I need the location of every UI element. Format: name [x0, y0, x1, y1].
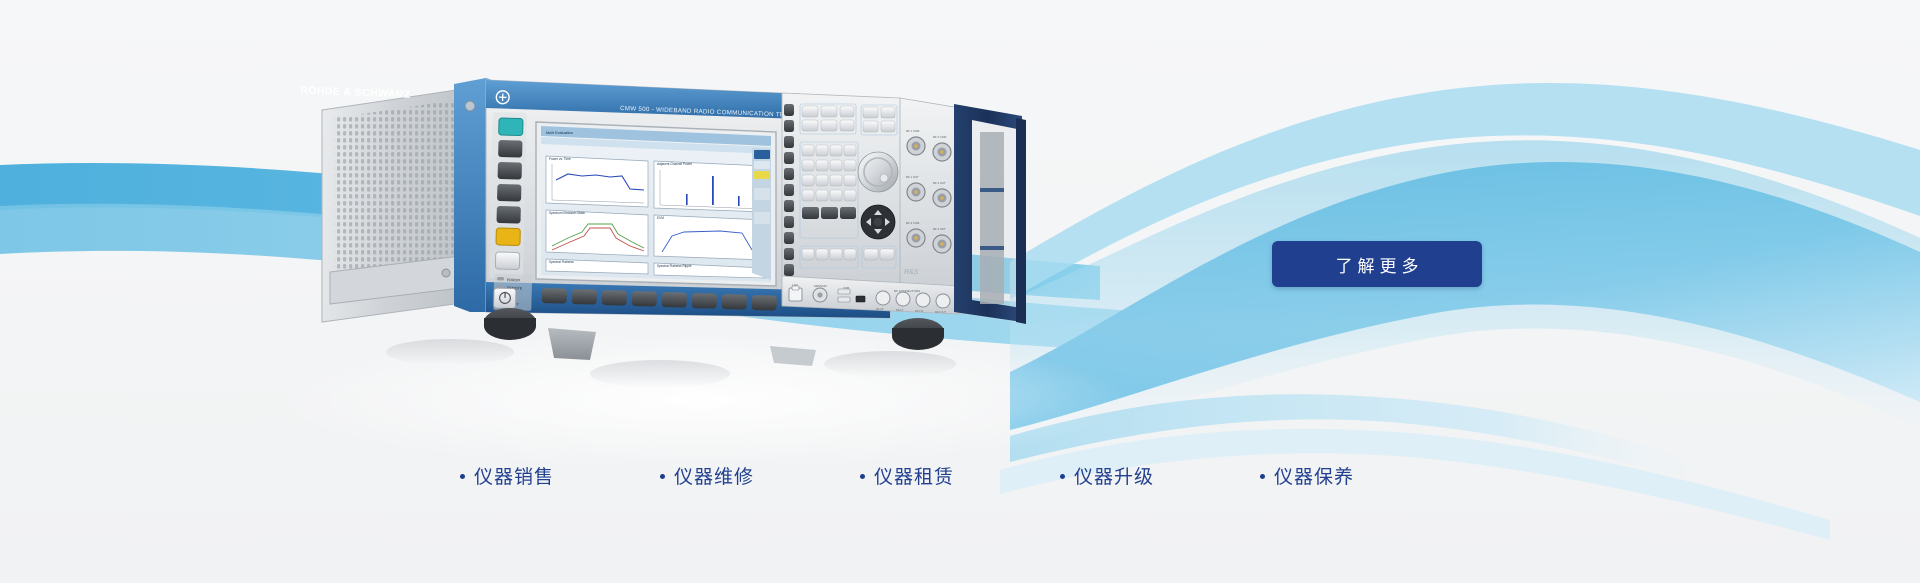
- rf-module-panel[interactable]: RF 1 COM RF 2 COM RF 1 OUT RF 2 OUT RF 3…: [900, 98, 960, 314]
- service-item-sales[interactable]: 仪器销售: [460, 462, 660, 489]
- screen-tab-trigger: [754, 212, 770, 224]
- screen-panel-spectrum-emission-mask: Spectrum Emission Mask: [546, 210, 648, 256]
- usb-port-1: [838, 289, 850, 294]
- bullet-icon: [660, 474, 665, 479]
- svg-text:SENSOR: SENSOR: [814, 284, 828, 288]
- svg-text:Power vs. Time: Power vs. Time: [549, 157, 571, 161]
- off-key: [880, 249, 894, 260]
- service-label: 仪器保养: [1274, 462, 1354, 489]
- preset-button[interactable]: [499, 118, 523, 136]
- bullet-icon: [1260, 474, 1265, 479]
- softkey-3: [602, 290, 627, 306]
- carry-handle: [954, 104, 1026, 324]
- save-recall-button[interactable]: [498, 162, 522, 180]
- hero-banner: ROHDE & SCHWARZ CMW 500 - WIDEBAND RADIO…: [0, 0, 1920, 583]
- svg-text:RF 3 OUT: RF 3 OUT: [933, 227, 946, 231]
- navigation-dpad[interactable]: [861, 205, 895, 239]
- softkey-5: [662, 292, 687, 308]
- bullet-icon: [460, 474, 465, 479]
- service-item-rental[interactable]: 仪器租赁: [860, 462, 1060, 489]
- svg-text:RF 1 OUT: RF 1 OUT: [906, 175, 919, 179]
- screen-tab-route: [754, 161, 770, 169]
- service-label: 仪器销售: [474, 462, 554, 489]
- svg-text:Spectrum Emission Mask: Spectrum Emission Mask: [549, 211, 585, 215]
- rf-front-2: [896, 292, 910, 306]
- service-label: 仪器维修: [674, 462, 754, 489]
- screen-tab-meas: [754, 150, 770, 159]
- back-space-key: [802, 207, 819, 219]
- rotary-knob[interactable]: [858, 152, 898, 192]
- svg-text:RF1 IN: RF1 IN: [915, 309, 923, 313]
- softkey-6: [692, 293, 717, 309]
- svg-text:RF2 A: RF2 A: [896, 308, 903, 312]
- softkey-2: [572, 289, 597, 305]
- rf-front-1: [876, 291, 890, 305]
- bullet-icon: [1060, 474, 1065, 479]
- instrument-screen[interactable]: Multi Evaluation Power vs. Time Adjacent…: [536, 122, 776, 286]
- side-button-column[interactable]: [489, 112, 527, 279]
- svg-text:Adjacent Channel Power: Adjacent Channel Power: [657, 162, 693, 166]
- screen-title: Multi Evaluation: [546, 131, 573, 135]
- screen-panel-adjacent-channel-power: Adjacent Channel Power: [654, 161, 766, 212]
- on-key: [864, 249, 878, 260]
- led-label-error: ERROR: [507, 278, 520, 282]
- service-list: 仪器销售 仪器维修 仪器租赁 仪器升级 仪器保养: [0, 462, 1920, 489]
- brand-text: ROHDE & SCHWARZ: [300, 84, 411, 100]
- svg-text:RF 2 OUT: RF 2 OUT: [933, 181, 946, 185]
- svg-text:RF CONNECTORS: RF CONNECTORS: [894, 289, 920, 293]
- sys-button[interactable]: [495, 252, 519, 270]
- svg-text:RF2 OUT: RF2 OUT: [935, 310, 947, 314]
- screen-tab-active: [754, 171, 770, 179]
- svg-text:Spectral Flatness: Spectral Flatness: [549, 260, 574, 264]
- rf-front-4: [936, 294, 950, 308]
- power-button[interactable]: [494, 288, 516, 309]
- rf-front-3: [916, 293, 930, 307]
- print-button[interactable]: [496, 206, 520, 224]
- softkey-1: [542, 288, 567, 304]
- service-label: 仪器租赁: [874, 462, 954, 489]
- softkey-4: [632, 291, 657, 307]
- enter-key: [840, 207, 856, 219]
- help-button[interactable]: [496, 228, 520, 246]
- svg-text:RF 3 COM: RF 3 COM: [906, 221, 920, 225]
- usb-port-2: [838, 297, 850, 302]
- save-button[interactable]: [498, 140, 522, 158]
- svg-text:RF1 B: RF1 B: [876, 307, 884, 311]
- service-item-maintenance[interactable]: 仪器保养: [1260, 462, 1460, 489]
- aux-port: [856, 296, 865, 302]
- setup-button[interactable]: [497, 184, 521, 202]
- service-label: 仪器升级: [1074, 462, 1154, 489]
- svg-text:RF 2 COM: RF 2 COM: [933, 135, 947, 139]
- softkey-7: [722, 294, 747, 310]
- softkey-8: [752, 295, 777, 311]
- screen-panel-evm: EVM: [654, 215, 766, 260]
- svg-text:RF 1 COM: RF 1 COM: [906, 129, 920, 133]
- service-item-repair[interactable]: 仪器维修: [660, 462, 860, 489]
- svg-text:Spectral Flatness Ripple: Spectral Flatness Ripple: [657, 264, 692, 268]
- rs-watermark: R&S: [904, 269, 919, 276]
- tab-key: [821, 207, 838, 219]
- instrument-cmw500: ROHDE & SCHWARZ CMW 500 - WIDEBAND RADIO…: [300, 60, 1100, 380]
- screen-tab-rail[interactable]: [752, 148, 771, 280]
- bullet-icon: [860, 474, 865, 479]
- learn-more-button[interactable]: 了解更多: [1272, 241, 1482, 287]
- service-item-upgrade[interactable]: 仪器升级: [1060, 462, 1260, 489]
- svg-text:EVM: EVM: [657, 216, 664, 220]
- screen-tab-settings: [754, 188, 770, 200]
- screen-panel-power-vs-time: Power vs. Time: [546, 156, 648, 207]
